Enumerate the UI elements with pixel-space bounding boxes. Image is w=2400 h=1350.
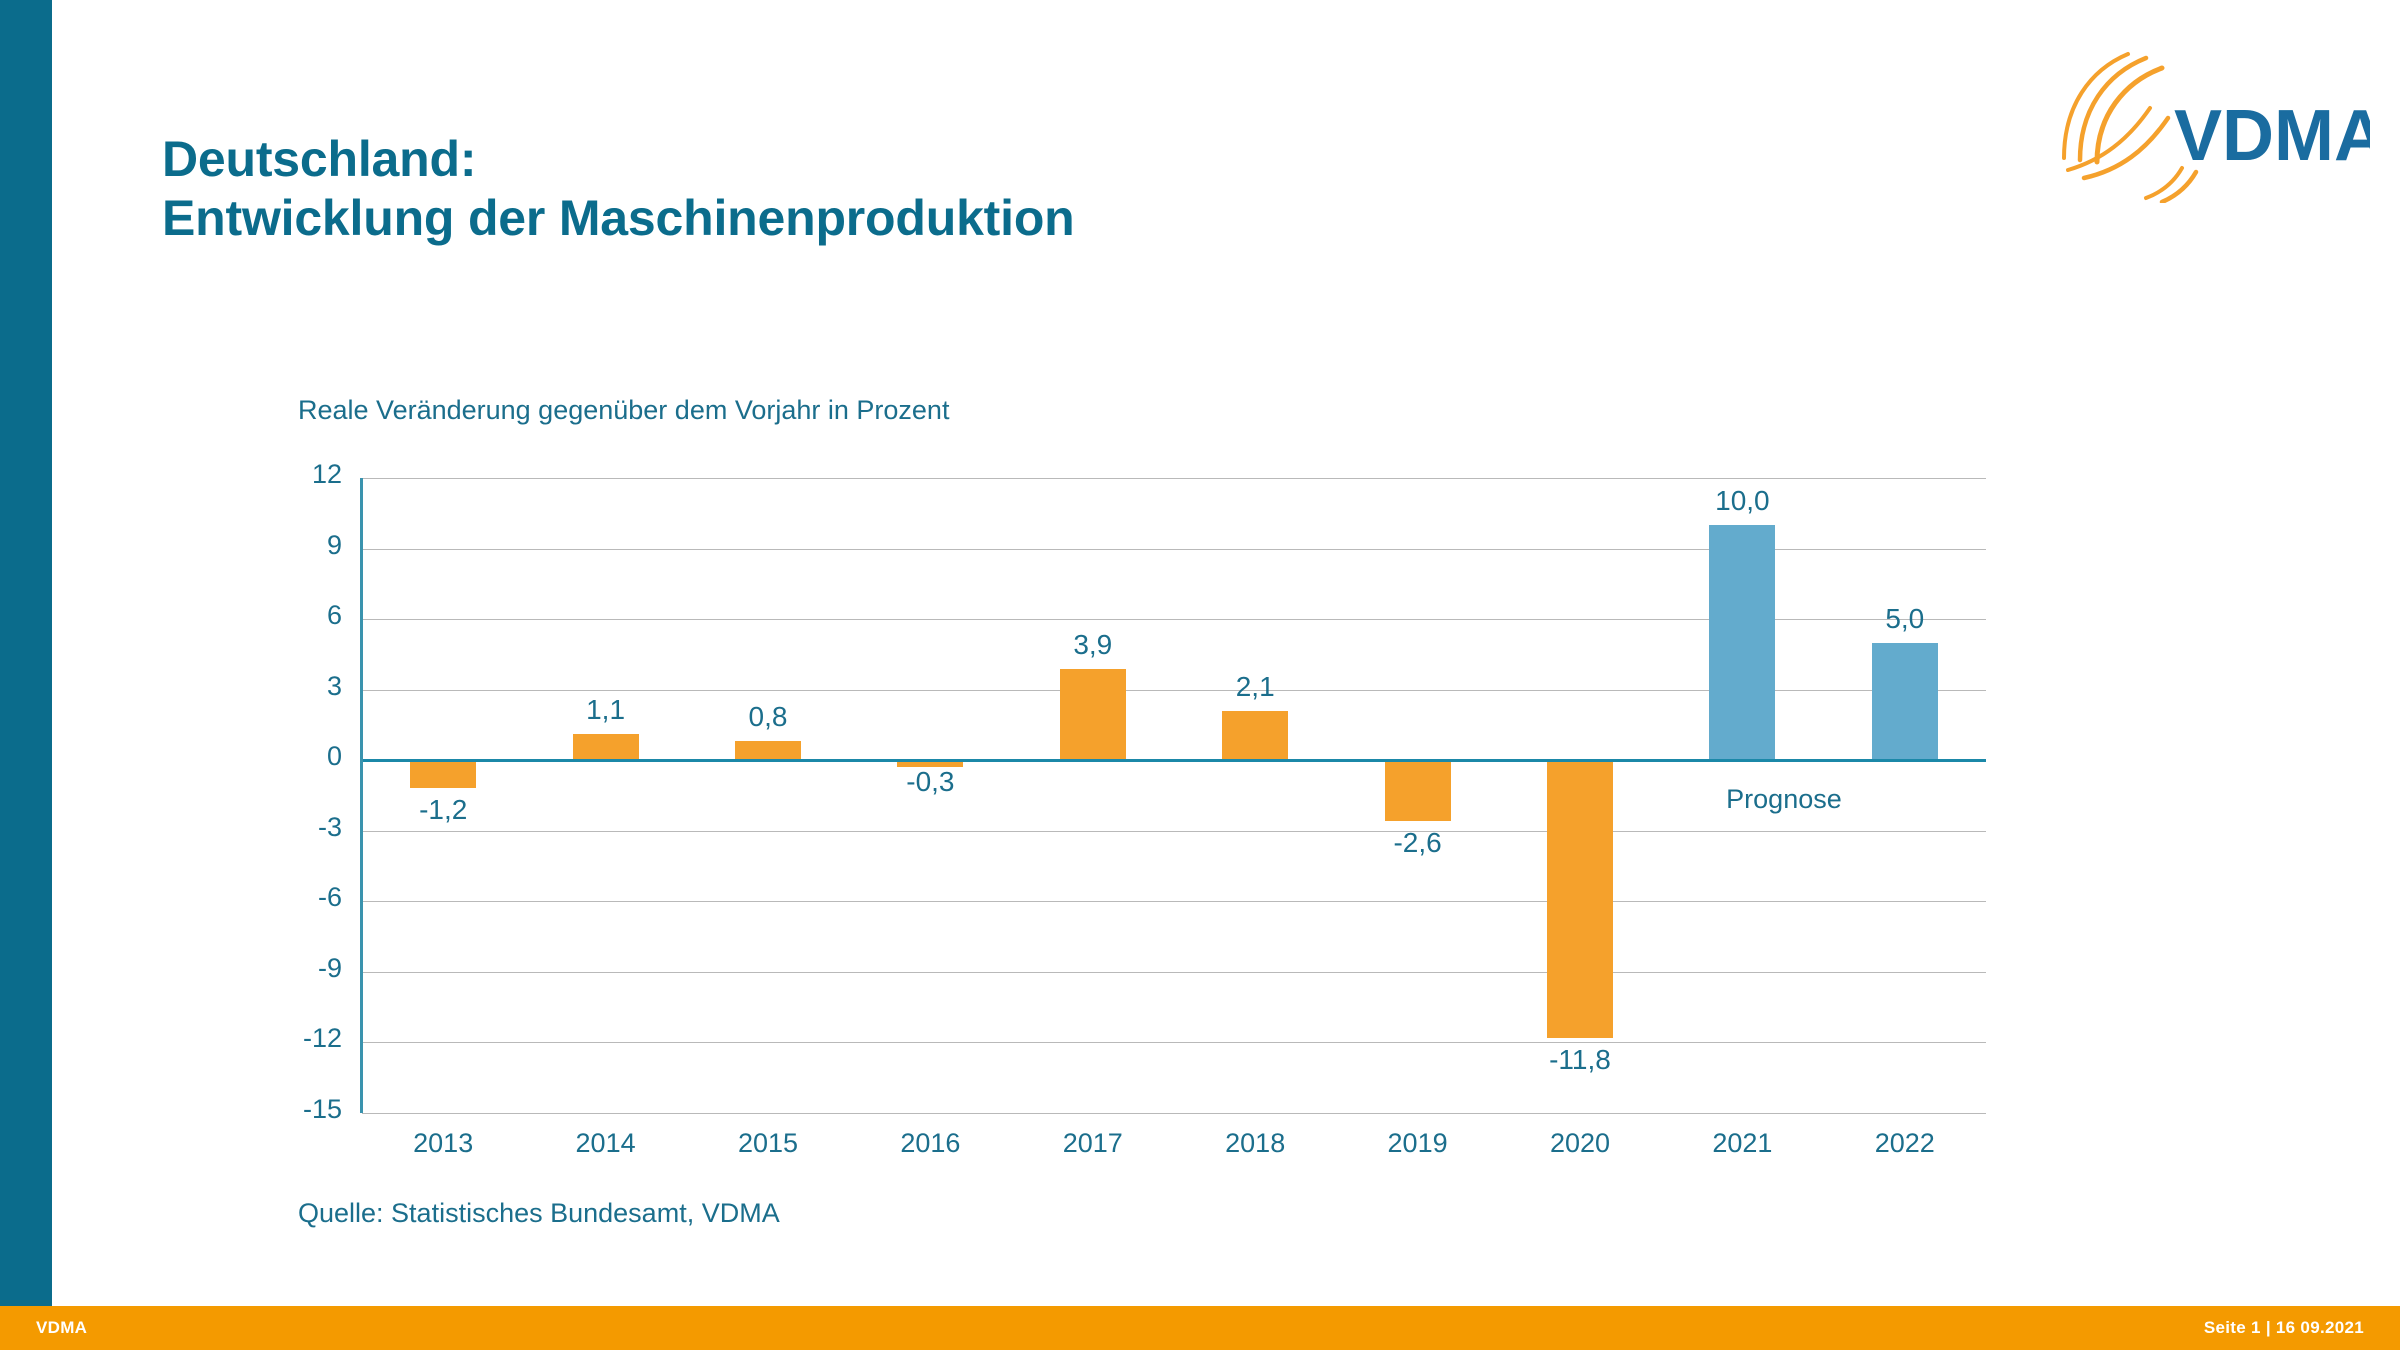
x-axis-tick-label: 2019 bbox=[1388, 1128, 1448, 1159]
y-axis-labels: 129630-3-6-9-12-15 bbox=[242, 478, 342, 1113]
bar-group: -11,82020 bbox=[1499, 478, 1661, 1113]
bar-group: -1,22013 bbox=[362, 478, 524, 1113]
y-axis-tick-label: -15 bbox=[303, 1094, 342, 1125]
bar-value-label: -2,6 bbox=[1393, 827, 1441, 859]
chart-source: Quelle: Statistisches Bundesamt, VDMA bbox=[298, 1198, 780, 1229]
bar[interactable] bbox=[1709, 525, 1775, 760]
x-axis-tick-label: 2018 bbox=[1225, 1128, 1285, 1159]
bar-value-label: 10,0 bbox=[1715, 485, 1770, 517]
bar[interactable] bbox=[1222, 711, 1288, 760]
y-axis-tick-label: -12 bbox=[303, 1023, 342, 1054]
bar-group: -2,62019 bbox=[1336, 478, 1498, 1113]
bar[interactable] bbox=[1547, 760, 1613, 1038]
bar-value-label: -1,2 bbox=[419, 794, 467, 826]
bar-value-label: 2,1 bbox=[1236, 671, 1275, 703]
bar-value-label: 5,0 bbox=[1885, 603, 1924, 635]
bar-value-label: 3,9 bbox=[1073, 629, 1112, 661]
bar[interactable] bbox=[410, 760, 476, 788]
bar-group: 5,02022 bbox=[1824, 478, 1986, 1113]
page-title: Deutschland: Entwicklung der Maschinenpr… bbox=[162, 130, 1075, 248]
bar-value-label: 0,8 bbox=[749, 701, 788, 733]
left-accent-bar bbox=[0, 0, 52, 1306]
y-axis-tick-label: 9 bbox=[327, 530, 342, 561]
x-axis-tick-label: 2017 bbox=[1063, 1128, 1123, 1159]
x-axis-tick-label: 2022 bbox=[1875, 1128, 1935, 1159]
bar-group: -0,32016 bbox=[849, 478, 1011, 1113]
x-axis-tick-label: 2016 bbox=[900, 1128, 960, 1159]
footer-page-info: Seite 1 | 16 09.2021 bbox=[2204, 1318, 2364, 1338]
footer-bar: VDMA Seite 1 | 16 09.2021 bbox=[0, 1306, 2400, 1350]
bar-chart: 129630-3-6-9-12-15 -1,220131,120140,8201… bbox=[362, 478, 1986, 1113]
bar-value-label: 1,1 bbox=[586, 694, 625, 726]
vdma-logo-text: VDMA bbox=[2174, 96, 2370, 176]
bar[interactable] bbox=[1385, 760, 1451, 821]
forecast-annotation: Prognose bbox=[1726, 784, 1842, 815]
y-axis-tick-label: 3 bbox=[327, 671, 342, 702]
x-axis-tick-label: 2020 bbox=[1550, 1128, 1610, 1159]
y-axis-line bbox=[360, 478, 363, 1113]
bar-group: 0,82015 bbox=[687, 478, 849, 1113]
page-title-line-1: Deutschland: bbox=[162, 130, 1075, 189]
bar[interactable] bbox=[1060, 669, 1126, 761]
y-axis-tick-label: -9 bbox=[318, 953, 342, 984]
bar[interactable] bbox=[1872, 643, 1938, 761]
bar-group: 2,12018 bbox=[1174, 478, 1336, 1113]
chart-subtitle: Reale Veränderung gegenüber dem Vorjahr … bbox=[298, 395, 949, 426]
bar-group: 3,92017 bbox=[1012, 478, 1174, 1113]
bar-value-label: -0,3 bbox=[906, 766, 954, 798]
x-axis-tick-label: 2013 bbox=[413, 1128, 473, 1159]
bar[interactable] bbox=[573, 734, 639, 760]
y-axis-tick-label: -6 bbox=[318, 882, 342, 913]
zero-axis-line bbox=[362, 759, 1986, 762]
page-title-line-2: Entwicklung der Maschinenproduktion bbox=[162, 189, 1075, 248]
bar-group: 1,12014 bbox=[524, 478, 686, 1113]
bar-value-label: -11,8 bbox=[1549, 1044, 1611, 1076]
x-axis-tick-label: 2015 bbox=[738, 1128, 798, 1159]
footer-brand: VDMA bbox=[36, 1318, 87, 1338]
bar[interactable] bbox=[735, 741, 801, 760]
y-axis-tick-label: 0 bbox=[327, 741, 342, 772]
vdma-logo: VDMA bbox=[2050, 48, 2370, 203]
y-axis-tick-label: 12 bbox=[312, 459, 342, 490]
gridline bbox=[362, 1113, 1986, 1114]
x-axis-tick-label: 2014 bbox=[576, 1128, 636, 1159]
x-axis-tick-label: 2021 bbox=[1712, 1128, 1772, 1159]
y-axis-tick-label: -3 bbox=[318, 812, 342, 843]
y-axis-tick-label: 6 bbox=[327, 600, 342, 631]
